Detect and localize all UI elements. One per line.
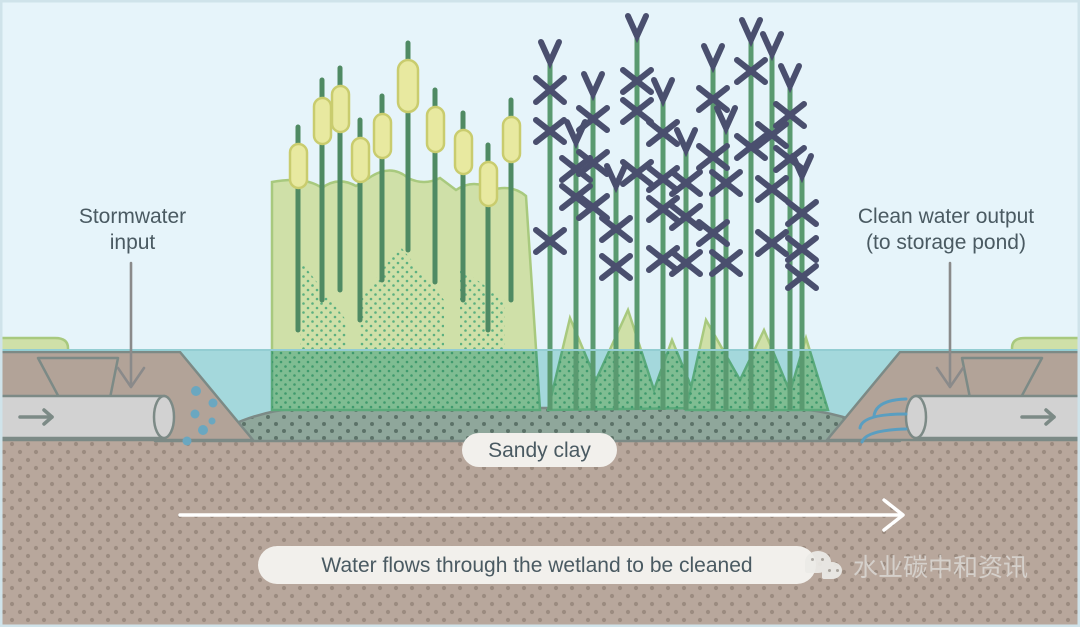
soil-layer xyxy=(0,440,1080,627)
inlet-pipe xyxy=(0,396,174,438)
diagram-canvas xyxy=(0,0,1080,627)
water-flow-label: Water flows through the wetland to be cl… xyxy=(258,546,816,584)
clean-water-output-label: Clean water output (to storage pond) xyxy=(836,204,1056,256)
wechat-icon xyxy=(805,551,845,581)
sandy-clay-label: Sandy clay xyxy=(462,433,617,467)
stormwater-input-label: Stormwater input xyxy=(40,204,225,256)
sky-background xyxy=(0,0,1080,352)
watermark: 水业碳中和资讯 xyxy=(805,548,1028,584)
wetland-diagram: Stormwater input Clean water output (to … xyxy=(0,0,1080,627)
watermark-text: 水业碳中和资讯 xyxy=(853,548,1028,584)
